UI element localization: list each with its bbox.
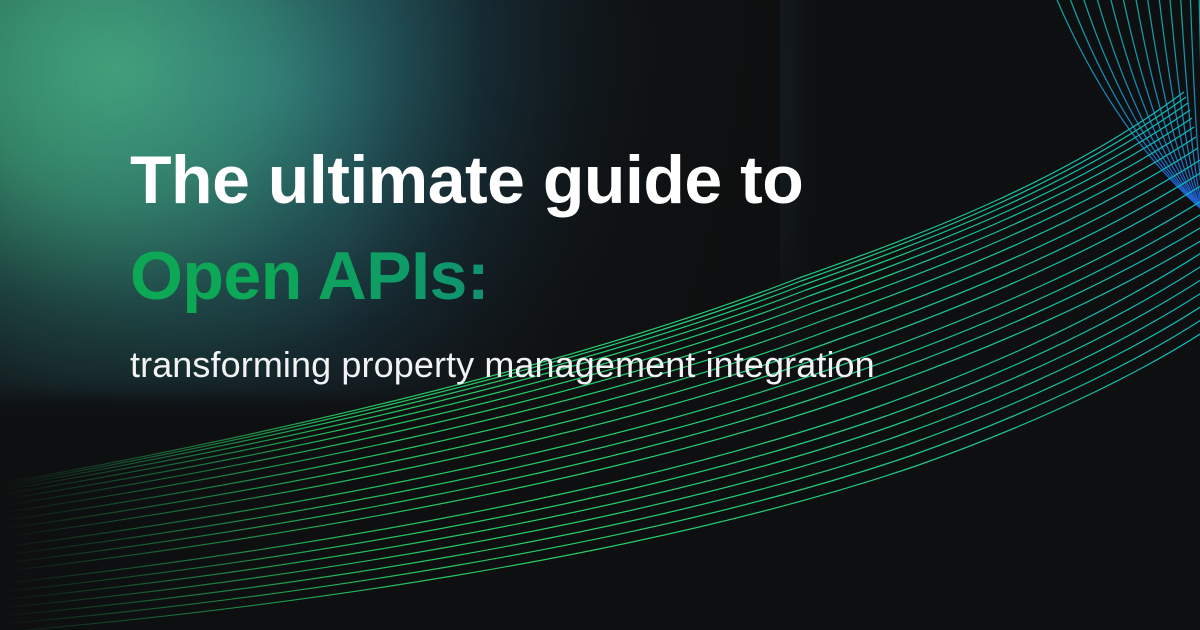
hero-text-block: The ultimate guide to Open APIs: transfo… xyxy=(130,132,1090,388)
subheadline: transforming property management integra… xyxy=(130,342,1090,388)
headline-line-1: The ultimate guide to xyxy=(130,132,1090,228)
hero-banner: The ultimate guide to Open APIs: transfo… xyxy=(0,0,1200,630)
headline-line-2-accent: Open APIs: xyxy=(130,228,1090,324)
